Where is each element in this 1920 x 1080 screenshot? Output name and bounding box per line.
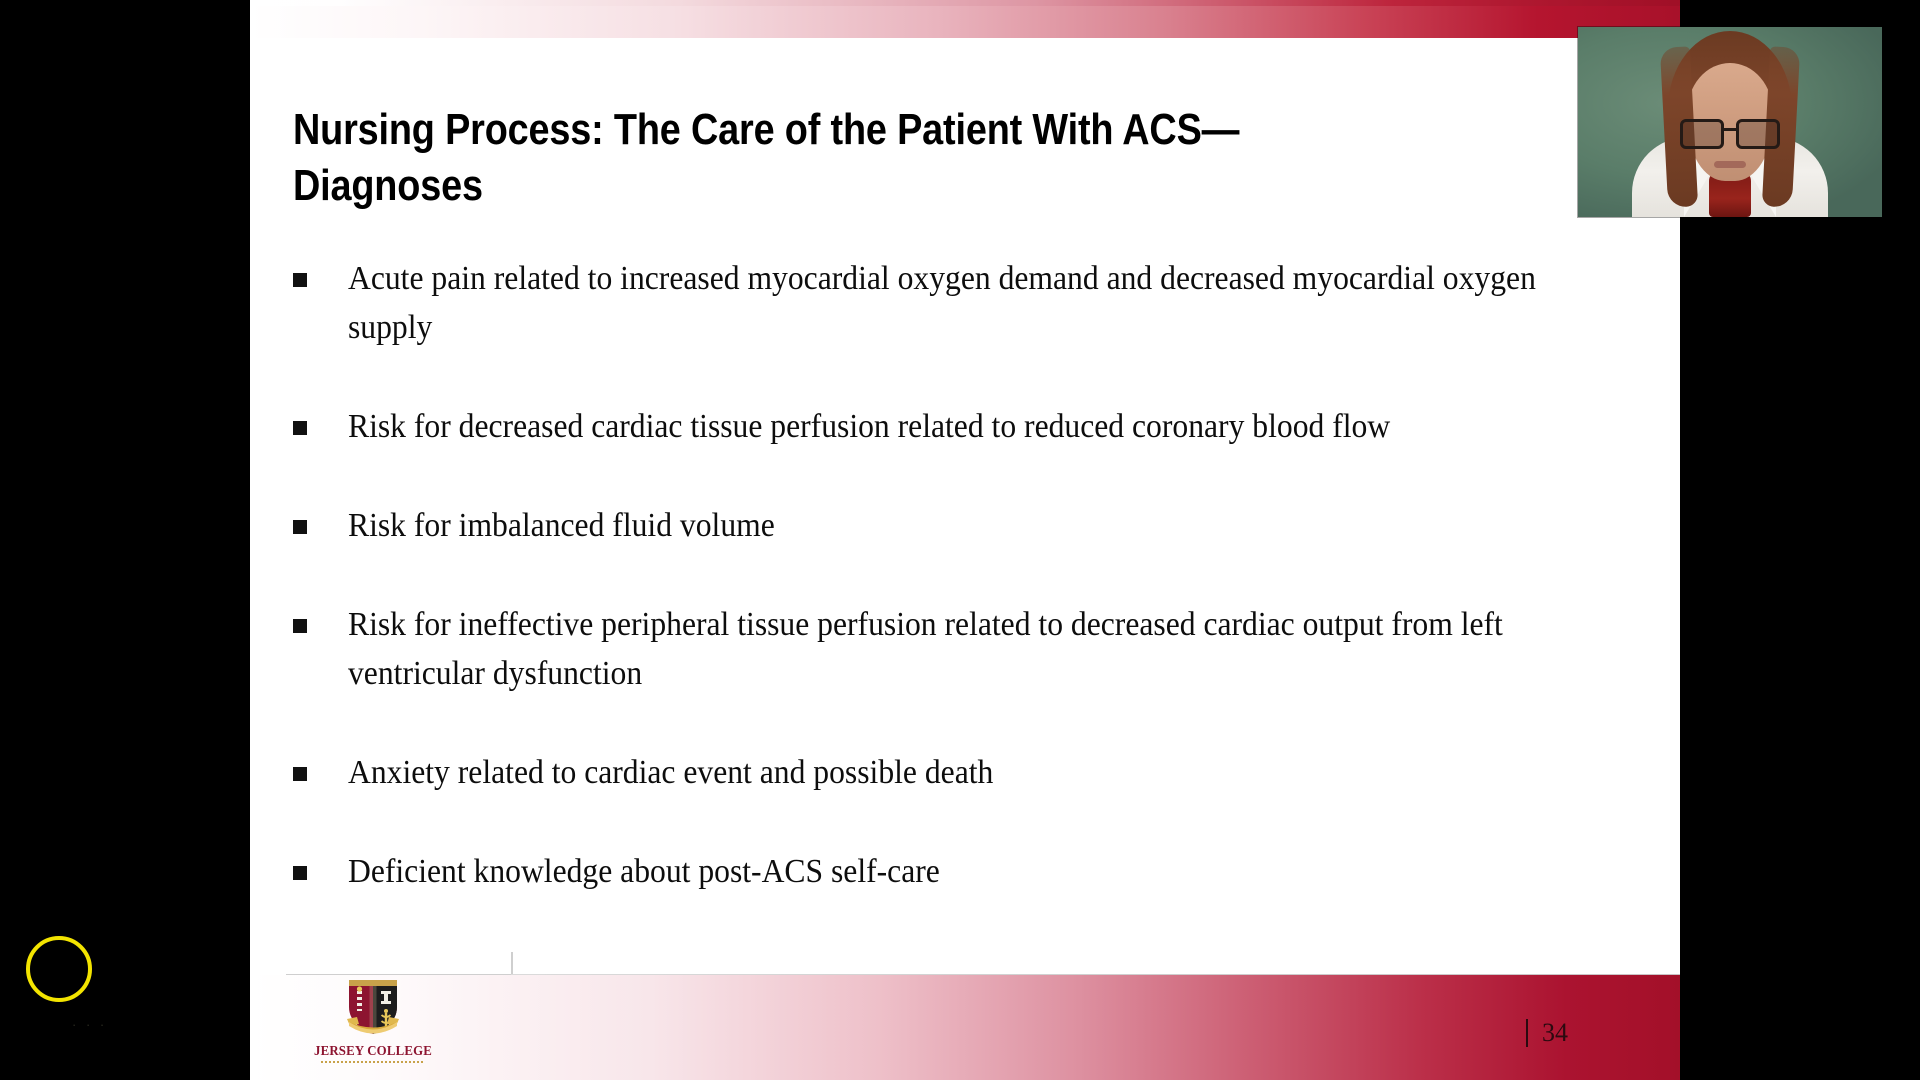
annotation-dots: · · · — [72, 1017, 107, 1032]
slide-footer-gradient-band — [250, 975, 1680, 1080]
slide-header-accent-stripe — [250, 0, 1680, 6]
screen: Nursing Process: The Care of the Patient… — [0, 0, 1920, 1080]
speaker-mouth — [1714, 161, 1746, 168]
slide-bullet-list: Acute pain related to increased myocardi… — [293, 255, 1653, 897]
list-item-label: Risk for ineffective peripheral tissue p… — [348, 601, 1562, 699]
list-item-label: Anxiety related to cardiac event and pos… — [348, 749, 1562, 798]
list-item-label: Deficient knowledge about post-ACS self-… — [348, 848, 1562, 897]
list-item: Anxiety related to cardiac event and pos… — [293, 749, 1653, 798]
webcam-video-overlay[interactable] — [1578, 27, 1882, 217]
footer-divider-step — [511, 952, 513, 976]
list-item: Risk for imbalanced fluid volume — [293, 502, 1653, 551]
eyeglass-lens-left — [1680, 119, 1724, 149]
shield-crest-icon — [345, 977, 401, 1039]
square-bullet-icon — [293, 767, 307, 781]
list-item: Deficient knowledge about post-ACS self-… — [293, 848, 1653, 897]
logo-wordmark: JERSEY COLLEGE — [311, 1043, 435, 1059]
list-item-label: Risk for decreased cardiac tissue perfus… — [348, 403, 1562, 452]
presentation-slide: Nursing Process: The Care of the Patient… — [250, 0, 1680, 1080]
list-item-label: Acute pain related to increased myocardi… — [348, 255, 1562, 353]
square-bullet-icon — [293, 619, 307, 633]
slide-title: Nursing Process: The Care of the Patient… — [293, 102, 1385, 214]
eyeglasses-icon — [1678, 119, 1782, 145]
slide-header-gradient-band — [250, 0, 1680, 38]
list-item: Risk for decreased cardiac tissue perfus… — [293, 403, 1653, 452]
page-number: 34 — [1542, 1018, 1568, 1048]
square-bullet-icon — [293, 866, 307, 880]
square-bullet-icon — [293, 421, 307, 435]
page-number-divider — [1526, 1019, 1528, 1047]
eyeglass-bridge — [1723, 128, 1737, 131]
list-item-label: Risk for imbalanced fluid volume — [348, 502, 1562, 551]
jersey-college-logo: JERSEY COLLEGE — [308, 977, 438, 1072]
square-bullet-icon — [293, 520, 307, 534]
list-item: Acute pain related to increased myocardi… — [293, 255, 1653, 353]
annotation-circle-marker[interactable] — [26, 936, 92, 1002]
eyeglass-lens-right — [1736, 119, 1780, 149]
square-bullet-icon — [293, 273, 307, 287]
logo-underline-rule — [321, 1061, 425, 1063]
list-item: Risk for ineffective peripheral tissue p… — [293, 601, 1653, 699]
ribbon-icon — [347, 1017, 399, 1037]
slide-page-number-group: 34 — [1526, 1018, 1568, 1048]
